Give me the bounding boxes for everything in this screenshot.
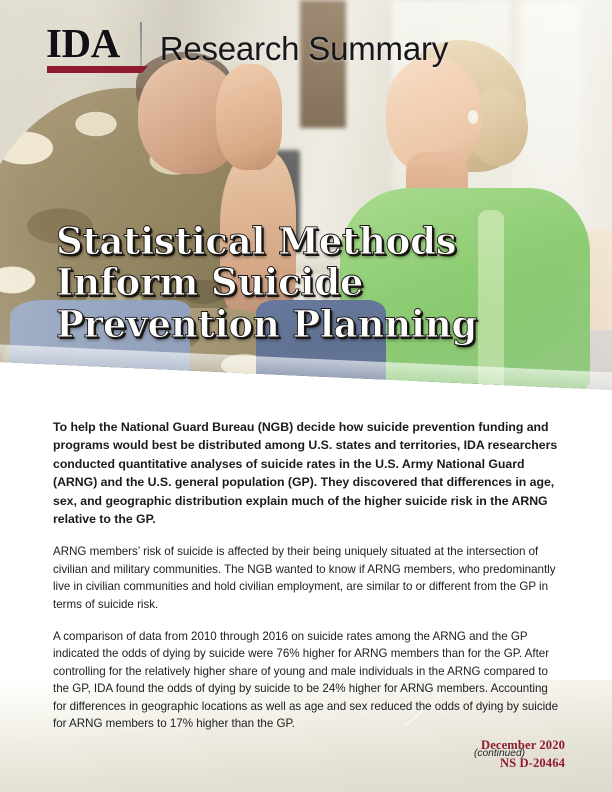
page-title-line-3: Prevention Planning [56, 304, 556, 345]
masthead: IDA Research Summary [46, 20, 448, 76]
page-title-line-2: Inform Suicide [56, 262, 556, 303]
ida-logo-text: IDA [46, 23, 120, 64]
article-body: To help the National Guard Bureau (NGB) … [53, 418, 561, 759]
masthead-title: Research Summary [160, 32, 448, 65]
lead-paragraph: To help the National Guard Bureau (NGB) … [53, 418, 561, 528]
ida-logo-underline [47, 66, 148, 73]
photo-counselor-earring [468, 110, 478, 124]
photo-soldier-hand [216, 64, 282, 170]
page-title: Statistical Methods Inform Suicide Preve… [56, 221, 556, 345]
page-title-line-1: Statistical Methods [56, 221, 556, 262]
continued-note: (continued) [53, 748, 561, 759]
research-summary-page: IDA Research Summary Statistical Methods… [0, 0, 612, 792]
ida-logo: IDA [46, 23, 120, 73]
body-paragraph-2: ARNG members’ risk of suicide is affecte… [53, 543, 561, 613]
body-paragraph-3: A comparison of data from 2010 through 2… [53, 628, 561, 733]
